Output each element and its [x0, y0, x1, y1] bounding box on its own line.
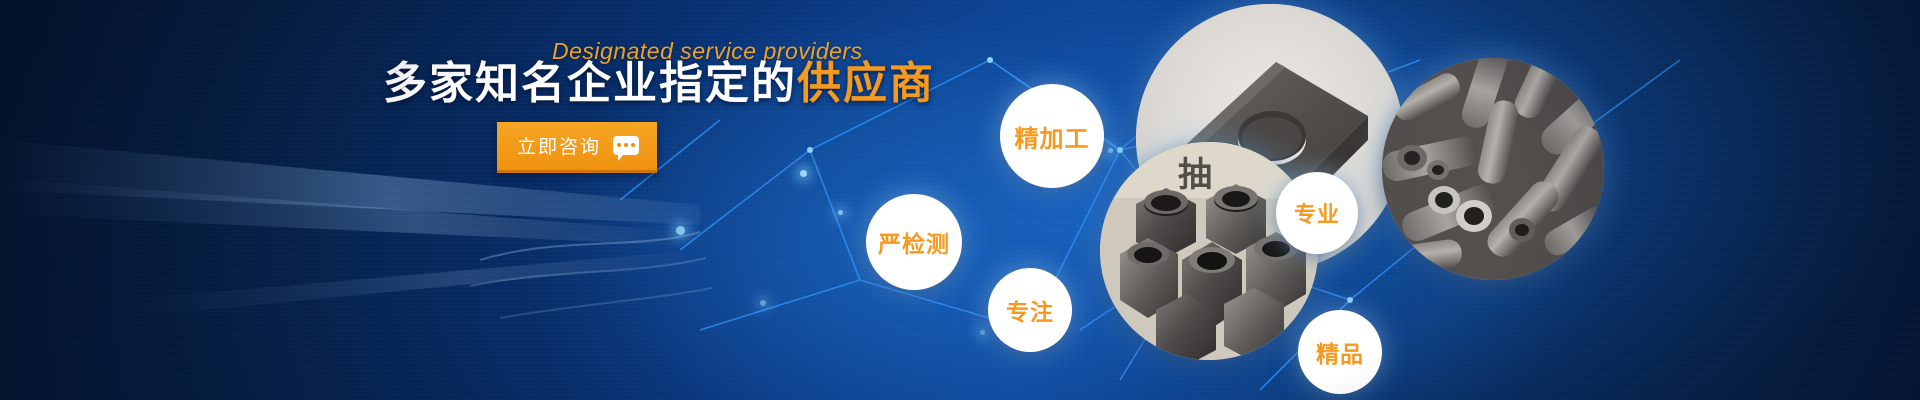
- promo-banner: 抽: [0, 0, 1920, 400]
- background-vignette: [0, 0, 1920, 400]
